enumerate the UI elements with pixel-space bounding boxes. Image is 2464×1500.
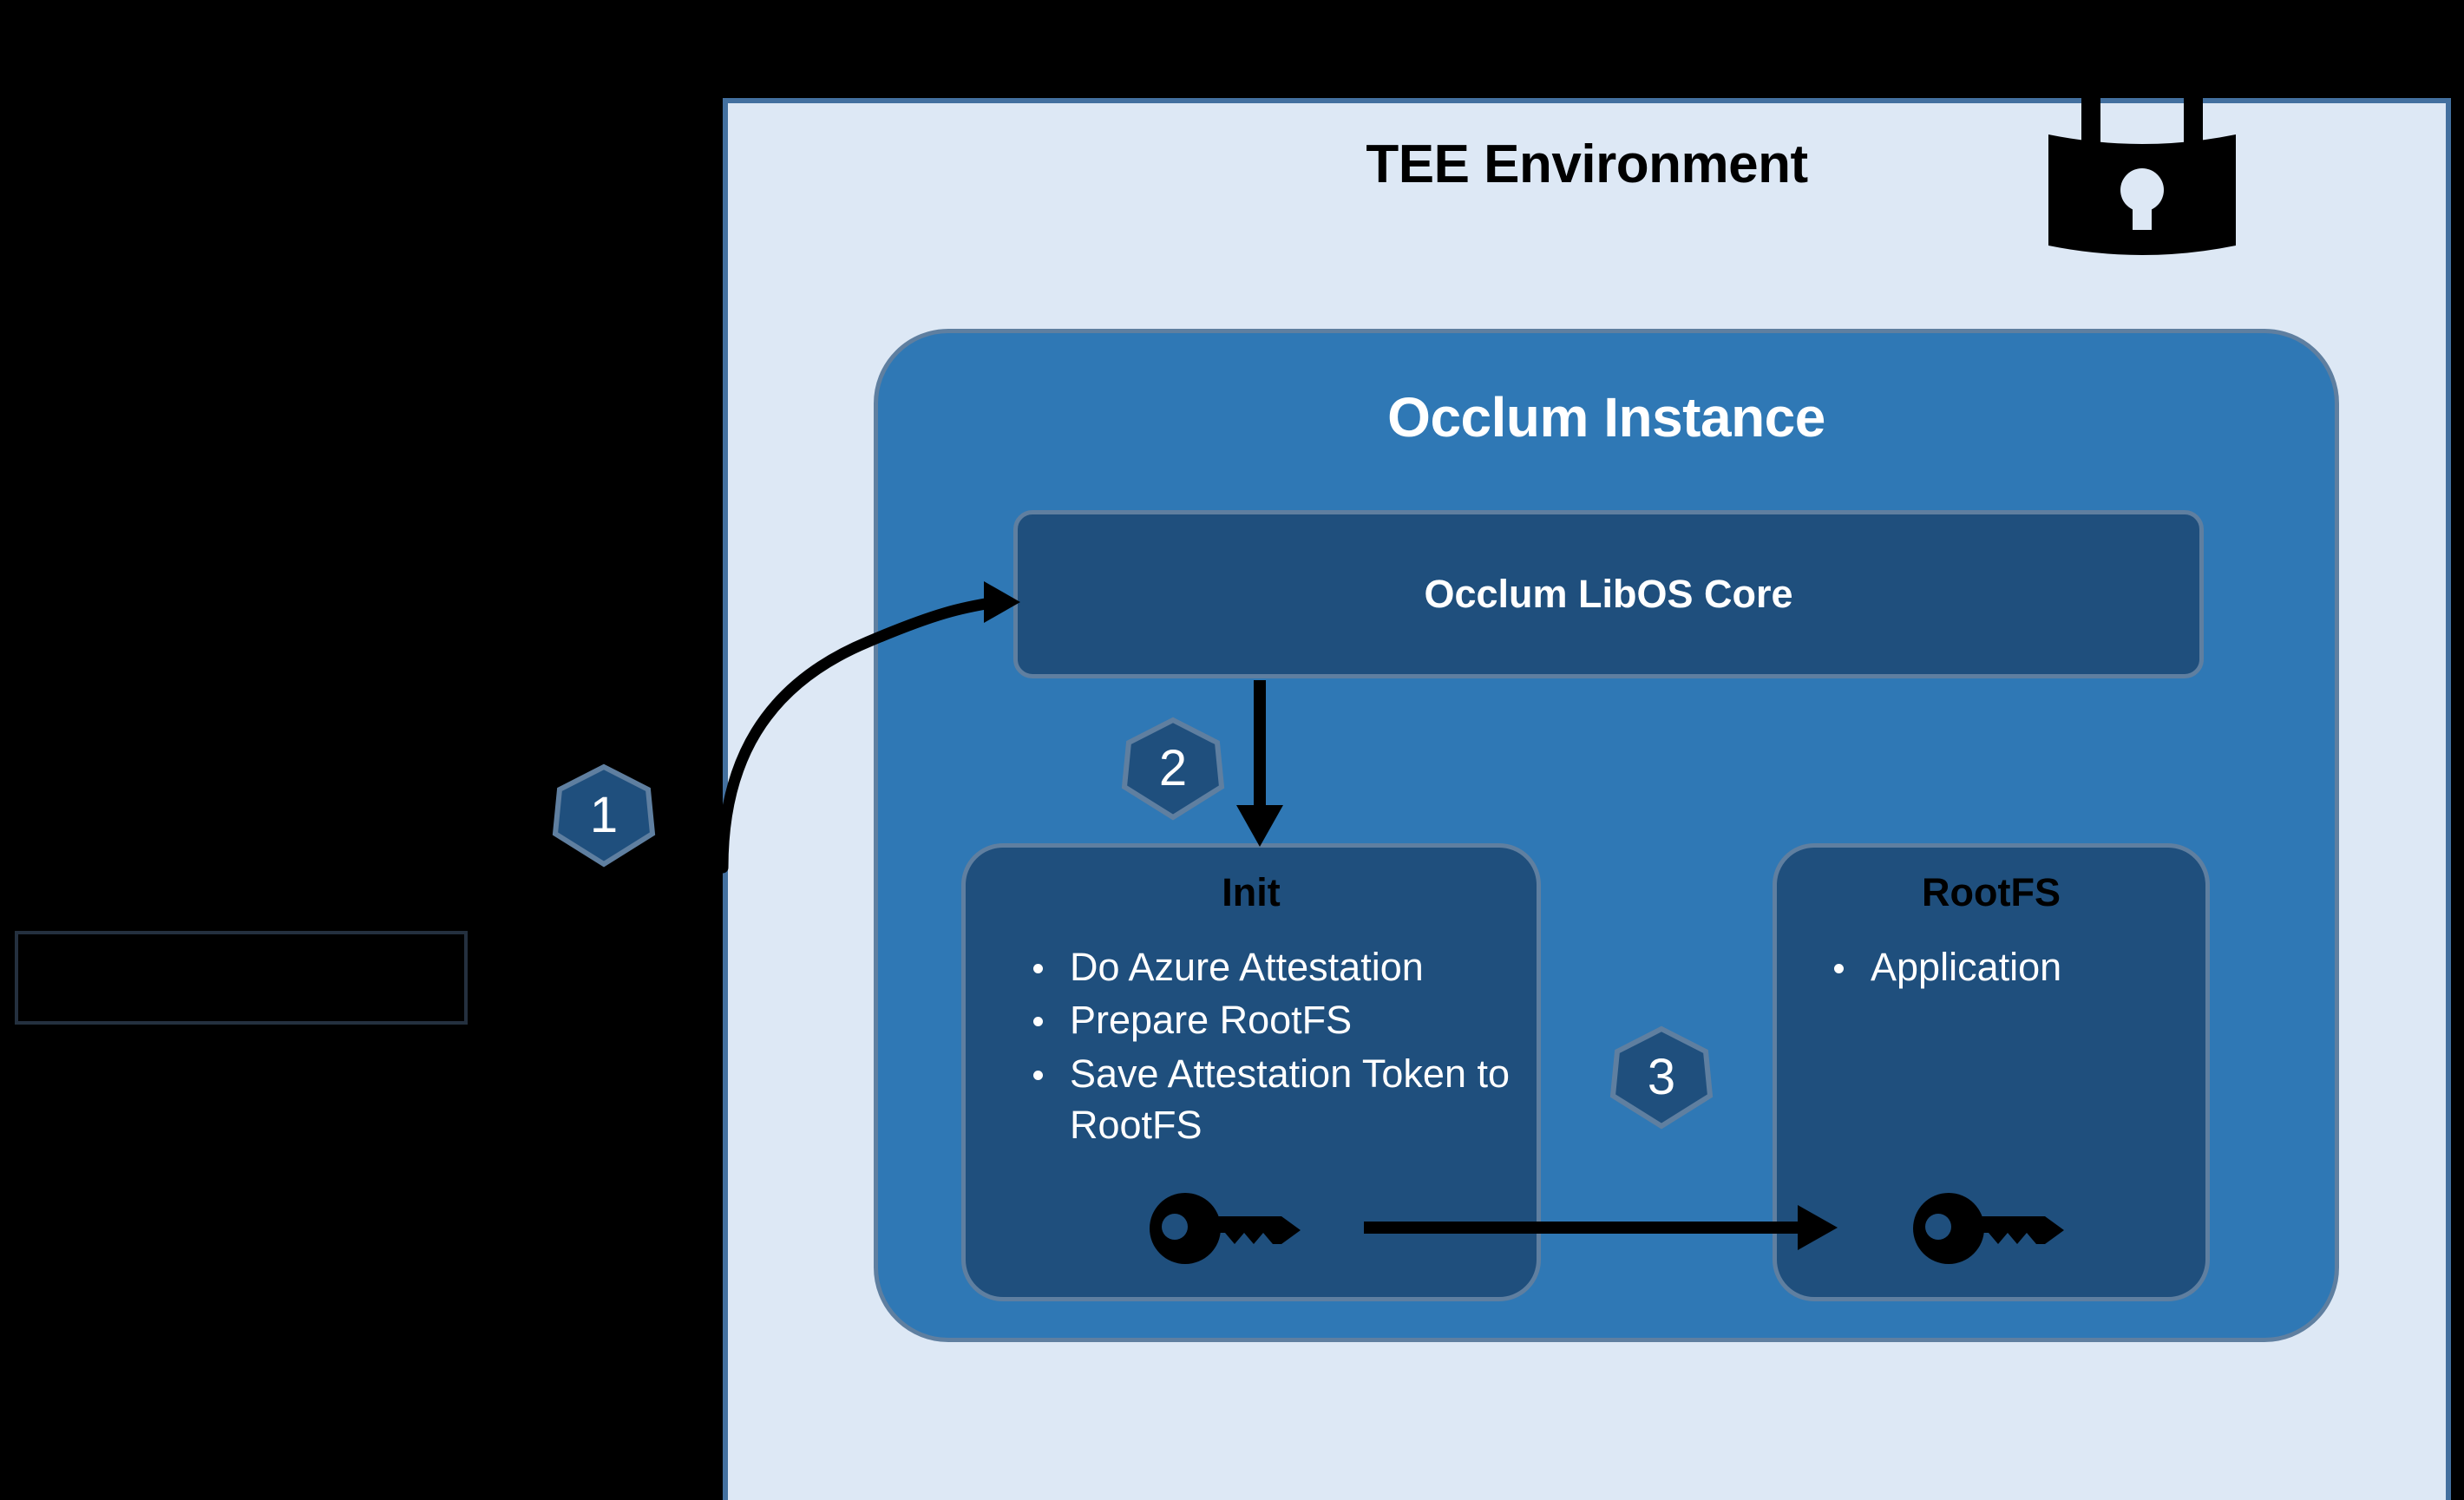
list-item: Application (1820, 941, 2249, 992)
padlock-icon (2029, 51, 2255, 277)
init-title: Init (966, 870, 1537, 915)
key-icon (1150, 1191, 1306, 1266)
diagram-canvas: TEE Environment Occlum Instance Occlum L… (0, 0, 2464, 1500)
rootfs-title: RootFS (1777, 870, 2205, 915)
occlum-libos-core-box: Occlum LibOS Core (1013, 510, 2204, 678)
init-bullet-list: Do Azure Attestation Prepare RootFS Save… (966, 941, 1590, 1153)
list-item: Prepare RootFS (1019, 994, 1590, 1045)
step-badge-1: 1 (552, 763, 656, 868)
step-badge-2-number: 2 (1121, 717, 1225, 821)
list-item: Do Azure Attestation (1019, 941, 1590, 992)
list-item: Save Attestation Token to RootFS (1019, 1048, 1590, 1151)
key-icon (1913, 1191, 2069, 1266)
rootfs-bullet-list: Application (1777, 941, 2249, 994)
occlum-libos-core-label: Occlum LibOS Core (1424, 572, 1792, 617)
step-badge-2: 2 (1121, 717, 1225, 821)
step-badge-3: 3 (1609, 1025, 1714, 1130)
step-badge-1-number: 1 (552, 763, 656, 868)
left-placeholder-box (15, 931, 468, 1025)
occlum-instance-title: Occlum Instance (878, 385, 2335, 449)
step-badge-3-number: 3 (1609, 1025, 1714, 1130)
